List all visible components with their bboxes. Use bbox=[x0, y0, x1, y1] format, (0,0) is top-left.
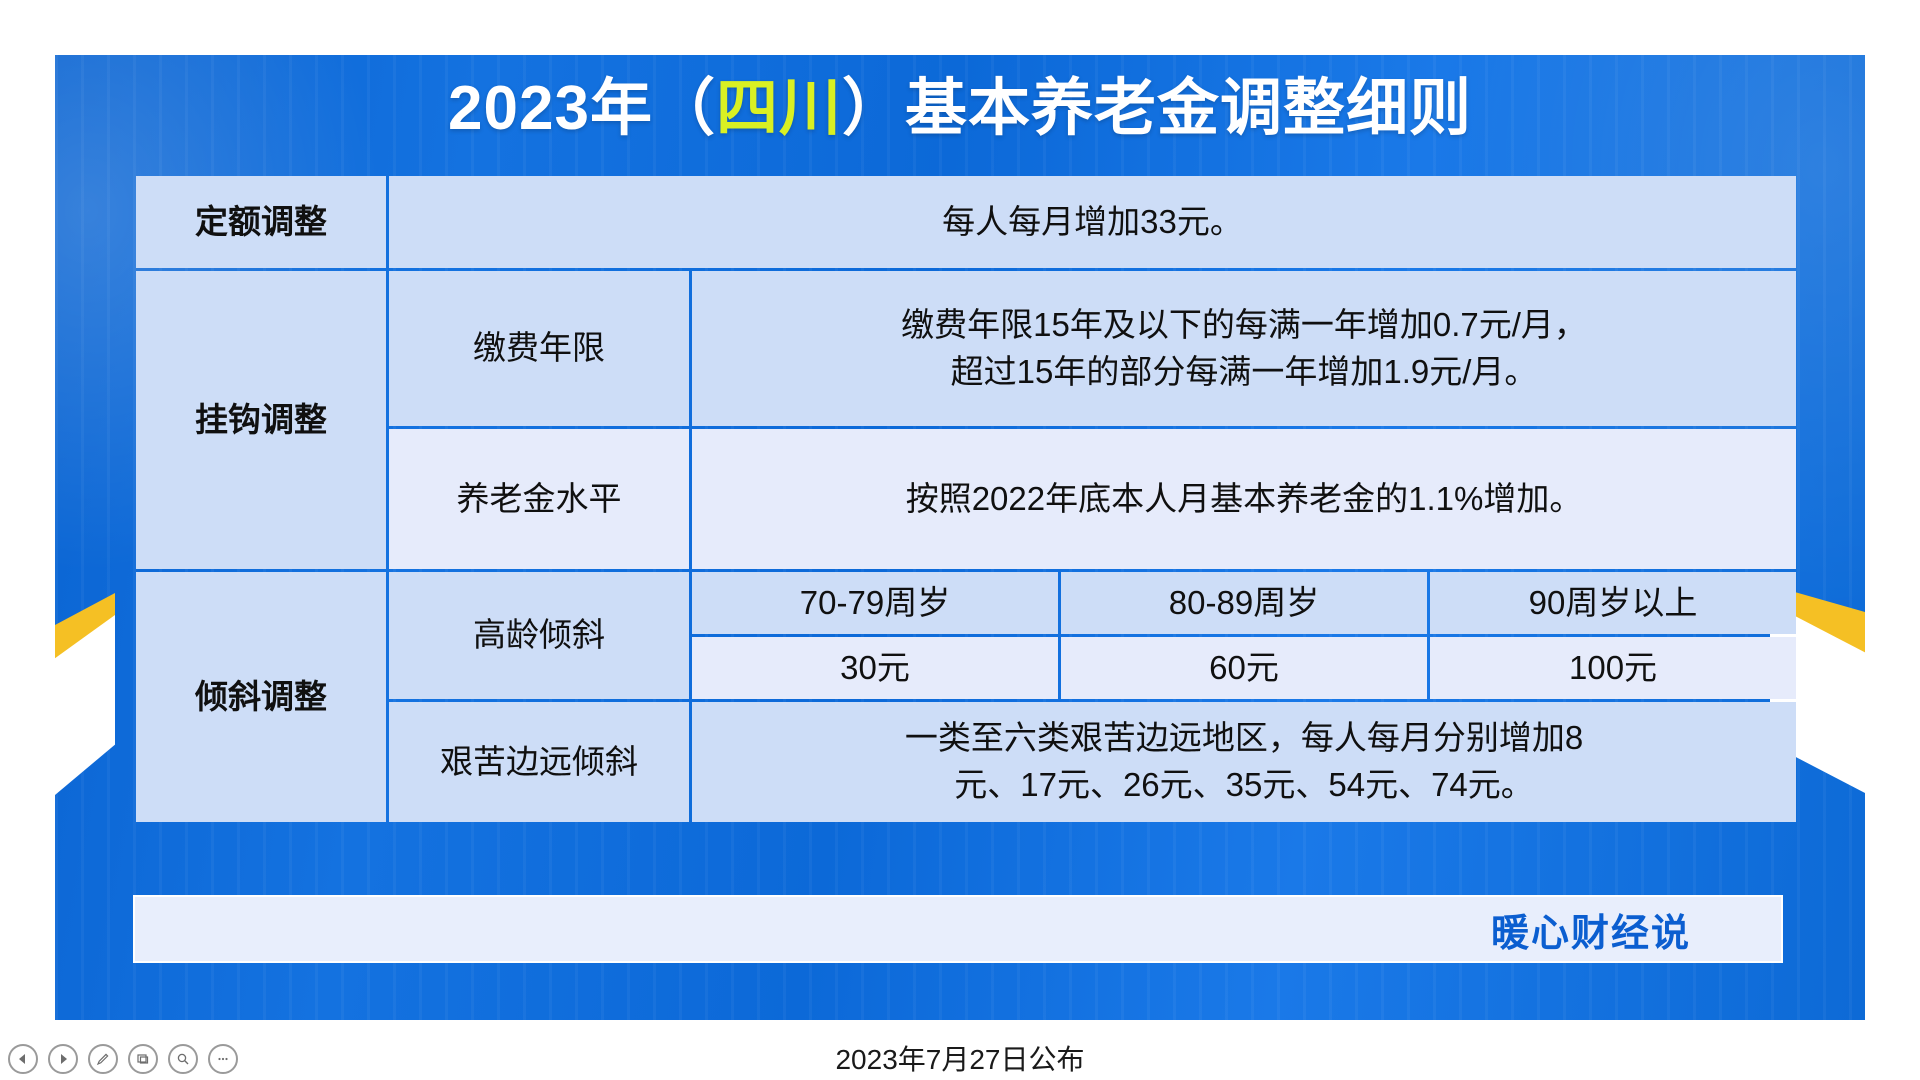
signature-strip: 暖心财经说 bbox=[133, 895, 1783, 963]
table-row: 定额调整 每人每月增加33元。 bbox=[136, 176, 1796, 268]
author-signature: 暖心财经说 bbox=[1491, 902, 1691, 957]
zoom-icon[interactable] bbox=[168, 1044, 198, 1074]
tier-header-70-79: 70-79周岁 bbox=[692, 572, 1058, 634]
pen-icon[interactable] bbox=[88, 1044, 118, 1074]
row-sub-remote-area-tilt: 艰苦边远倾斜 bbox=[389, 702, 689, 822]
remote-line-1: 一类至六类艰苦边远地区，每人每月分别增加8 bbox=[702, 715, 1786, 762]
footer-bar: 2023年7月27日公布 bbox=[0, 1036, 1920, 1080]
title-prefix: 2023年（ bbox=[448, 74, 716, 143]
tier-header-90-plus: 90周岁以上 bbox=[1430, 572, 1796, 634]
title-suffix: ）基本养老金调整细则 bbox=[842, 74, 1472, 143]
title-highlight: 四川 bbox=[716, 74, 842, 143]
row-category-fixed: 定额调整 bbox=[136, 176, 386, 268]
tier-value-70-79: 30元 bbox=[692, 637, 1058, 699]
pension-table-wrapper: 定额调整 每人每月增加33元。 挂钩调整 缴费年限 缴费年限15年及以下的每满一… bbox=[133, 173, 1783, 825]
slides-icon[interactable] bbox=[128, 1044, 158, 1074]
row-content-contribution-years: 缴费年限15年及以下的每满一年增加0.7元/月， 超过15年的部分每满一年增加1… bbox=[692, 271, 1796, 426]
previous-icon[interactable] bbox=[8, 1044, 38, 1074]
row-category-tilt: 倾斜调整 bbox=[136, 572, 386, 822]
row-content-pension-level: 按照2022年底本人月基本养老金的1.1%增加。 bbox=[692, 429, 1796, 569]
tier-value-80-89: 60元 bbox=[1061, 637, 1427, 699]
row-content-remote-area-tilt: 一类至六类艰苦边远地区，每人每月分别增加8 元、17元、26元、35元、54元、… bbox=[692, 702, 1796, 822]
presentation-canvas: 2023年（四川）基本养老金调整细则 定额调整 每人每月增加33元。 bbox=[0, 0, 1920, 1080]
contribution-line-2: 超过15年的部分每满一年增加1.9元/月。 bbox=[702, 349, 1786, 396]
contribution-line-1: 缴费年限15年及以下的每满一年增加0.7元/月， bbox=[702, 302, 1786, 349]
row-sub-contribution-years: 缴费年限 bbox=[389, 271, 689, 426]
slide-title: 2023年（四川）基本养老金调整细则 bbox=[55, 73, 1865, 144]
table-row: 挂钩调整 缴费年限 缴费年限15年及以下的每满一年增加0.7元/月， 超过15年… bbox=[136, 271, 1796, 426]
remote-line-2: 元、17元、26元、35元、54元、74元。 bbox=[702, 762, 1786, 809]
row-category-linked: 挂钩调整 bbox=[136, 271, 386, 569]
more-icon[interactable] bbox=[208, 1044, 238, 1074]
row-sub-elderly-tilt: 高龄倾斜 bbox=[389, 572, 689, 699]
slide: 2023年（四川）基本养老金调整细则 定额调整 每人每月增加33元。 bbox=[55, 55, 1865, 1020]
publish-date-caption: 2023年7月27日公布 bbox=[0, 1038, 1920, 1078]
next-icon[interactable] bbox=[48, 1044, 78, 1074]
row-sub-pension-level: 养老金水平 bbox=[389, 429, 689, 569]
table-row: 倾斜调整 高龄倾斜 70-79周岁 80-89周岁 90周岁以上 bbox=[136, 572, 1796, 634]
pension-adjustment-table: 定额调整 每人每月增加33元。 挂钩调整 缴费年限 缴费年限15年及以下的每满一… bbox=[133, 173, 1799, 825]
tier-value-90-plus: 100元 bbox=[1430, 637, 1796, 699]
tier-header-80-89: 80-89周岁 bbox=[1061, 572, 1427, 634]
player-toolbar[interactable] bbox=[8, 1044, 238, 1074]
row-content-fixed: 每人每月增加33元。 bbox=[389, 176, 1796, 268]
